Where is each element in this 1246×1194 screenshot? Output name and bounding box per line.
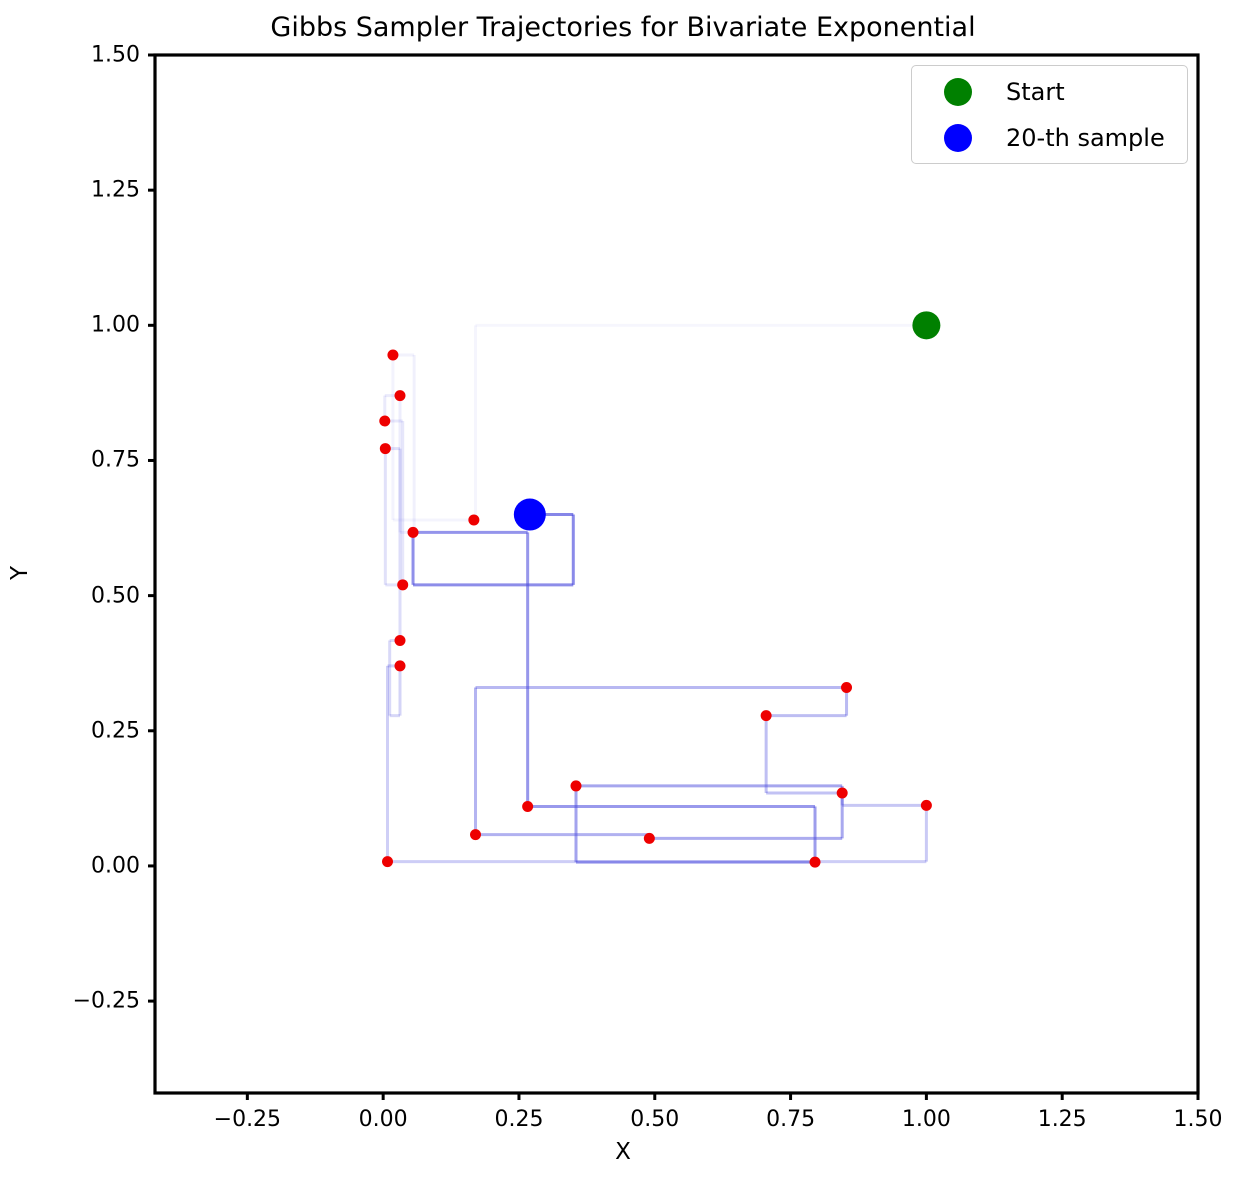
sample-point-marker	[380, 443, 391, 454]
y-axis-tick-label: 0.25	[5, 718, 140, 743]
sample-point-marker	[408, 527, 419, 538]
sample-point-marker	[921, 800, 932, 811]
sample-point-marker	[810, 857, 821, 868]
y-axis-tick-label: 0.75	[5, 448, 140, 473]
x-axis-tick-label: 0.25	[494, 1107, 543, 1132]
x-axis-tick-label: 1.50	[1174, 1107, 1223, 1132]
sample-point-marker	[382, 856, 393, 867]
x-axis-tick-label: 1.00	[902, 1107, 951, 1132]
x-axis-tick-label: 0.00	[359, 1107, 408, 1132]
y-axis-tick-label: 1.00	[5, 313, 140, 338]
y-axis-tick-label: −0.25	[5, 989, 140, 1014]
sample-point-marker	[468, 514, 479, 525]
sample-point-marker	[761, 710, 772, 721]
sample-point-marker	[522, 801, 533, 812]
sample-point-marker	[394, 390, 405, 401]
axes-spine	[155, 55, 1198, 1093]
legend-item-label: 20-th sample	[1006, 124, 1165, 152]
x-axis-tick-label: 0.75	[766, 1107, 815, 1132]
legend-start-marker-icon	[944, 78, 972, 106]
legend-final-marker-icon	[944, 124, 972, 152]
legend-item-label: Start	[1006, 78, 1065, 106]
x-axis-tick-label: −0.25	[214, 1107, 281, 1132]
sample-point-marker	[644, 833, 655, 844]
sample-point-marker	[470, 829, 481, 840]
final-sample-marker	[514, 499, 546, 531]
y-axis-tick-label: 0.00	[5, 853, 140, 878]
sample-point-marker	[387, 350, 398, 361]
x-axis-tick-label: 1.25	[1038, 1107, 1087, 1132]
y-axis-tick-label: 0.50	[5, 583, 140, 608]
chart-legend: Start 20-th sample	[911, 65, 1188, 164]
legend-item-final: 20-th sample	[912, 116, 1189, 160]
sample-point-marker	[837, 787, 848, 798]
chart-figure: Gibbs Sampler Trajectories for Bivariate…	[0, 0, 1246, 1194]
x-axis-tick-label: 0.50	[630, 1107, 679, 1132]
y-axis-tick-label: 1.50	[5, 43, 140, 68]
legend-item-start: Start	[912, 70, 1189, 114]
y-axis-tick-label: 1.25	[5, 178, 140, 203]
sample-point-marker	[394, 660, 405, 671]
sample-point-marker	[571, 780, 582, 791]
x-axis-label: X	[0, 1139, 1246, 1165]
sample-point-marker	[841, 682, 852, 693]
sample-point-marker	[394, 635, 405, 646]
sample-point-marker	[379, 416, 390, 427]
sample-point-marker	[397, 579, 408, 590]
plot-canvas	[0, 0, 1246, 1194]
start-point-marker	[912, 311, 940, 339]
